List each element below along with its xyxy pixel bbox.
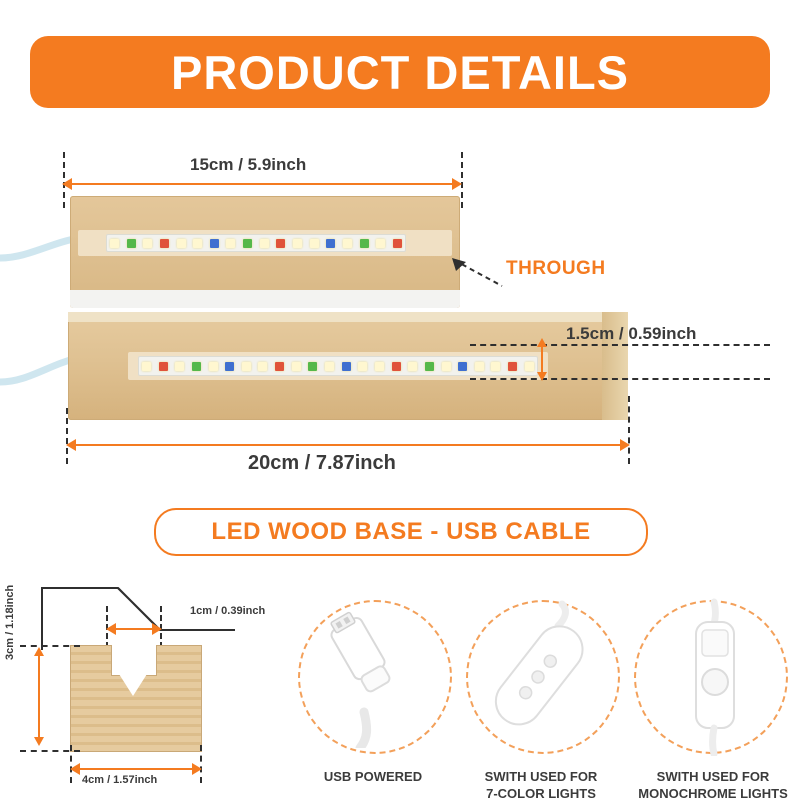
- led: [142, 362, 151, 371]
- feature-caption-line1: SWITH USED FOR: [485, 769, 598, 784]
- guide-height-bottom: [470, 378, 770, 380]
- led: [192, 362, 201, 371]
- dimension-arrow-notch: [116, 628, 152, 630]
- feature-caption-remote: SWITH USED FOR 7-COLOR LIGHTS: [446, 768, 636, 802]
- remote-switch-icon: [470, 596, 620, 746]
- led: [226, 239, 235, 248]
- arrowhead-right-top: [452, 178, 462, 190]
- dimension-label-top-width: 15cm / 5.9inch: [190, 155, 306, 175]
- led: [177, 239, 186, 248]
- led: [159, 362, 168, 371]
- feature-caption-line2: MONOCHROME LIGHTS: [638, 786, 788, 801]
- guide-height-top: [470, 344, 770, 346]
- through-label: THROUGH: [506, 258, 606, 280]
- wood-cross-section: [70, 645, 202, 752]
- cable-top-left: [0, 228, 80, 268]
- led: [292, 362, 301, 371]
- led: [425, 362, 434, 371]
- dimension-label-bottom-width: 20cm / 7.87inch: [248, 452, 396, 475]
- led: [242, 362, 251, 371]
- led: [408, 362, 417, 371]
- led-strip-top: [106, 234, 406, 252]
- arrowhead-up-xsec: [34, 647, 44, 656]
- dimension-arrow-bottom: [76, 444, 620, 446]
- feature-caption-line2: 7-COLOR LIGHTS: [486, 786, 596, 801]
- led: [276, 239, 285, 248]
- cross-section-v-groove: [119, 674, 147, 696]
- led: [376, 239, 385, 248]
- led: [193, 239, 202, 248]
- led: [393, 239, 402, 248]
- led: [360, 239, 369, 248]
- led: [508, 362, 517, 371]
- dimension-label-height: 1.5cm / 0.59inch: [566, 324, 696, 344]
- dimension-arrow-xsec-width: [80, 768, 192, 770]
- usb-connector-icon: [310, 608, 440, 748]
- guide-right-bottom: [628, 396, 630, 464]
- wood-base-bottom: [68, 312, 628, 420]
- led: [293, 239, 302, 248]
- led: [160, 239, 169, 248]
- arrowhead-left-bottom: [66, 439, 76, 451]
- led: [225, 362, 234, 371]
- led: [342, 362, 351, 371]
- led: [258, 362, 267, 371]
- arrowhead-left-xsec-width: [70, 763, 80, 775]
- dimension-arrow-xsec-height: [38, 655, 40, 741]
- through-leader-line: [452, 258, 512, 294]
- dimension-label-notch-width: 1cm / 0.39inch: [190, 605, 265, 617]
- section-title: LED WOOD BASE - USB CABLE: [211, 518, 590, 546]
- led: [458, 362, 467, 371]
- arrowhead-left-top: [62, 178, 72, 190]
- arrowhead-right-notch: [152, 623, 162, 635]
- led: [375, 362, 384, 371]
- arrowhead-right-xsec-width: [192, 763, 202, 775]
- page-title: PRODUCT DETAILS: [171, 45, 629, 100]
- product-details-page: PRODUCT DETAILS 15cm / 5.9inch: [0, 0, 800, 800]
- led: [260, 239, 269, 248]
- led-strip-bottom: [138, 356, 538, 376]
- led: [110, 239, 119, 248]
- led: [525, 362, 534, 371]
- arrowhead-up-height: [537, 338, 547, 347]
- led: [210, 239, 219, 248]
- led: [308, 362, 317, 371]
- dimension-arrow-top: [72, 183, 452, 185]
- guide-left-bottom: [66, 408, 68, 464]
- guide-xsec-top: [20, 645, 80, 647]
- wood-base-top: [70, 196, 460, 308]
- wood-lip-top: [70, 290, 460, 308]
- arrowhead-right-bottom: [620, 439, 630, 451]
- led: [475, 362, 484, 371]
- led: [143, 239, 152, 248]
- led: [175, 362, 184, 371]
- feature-caption-line1: SWITH USED FOR: [657, 769, 770, 784]
- led: [275, 362, 284, 371]
- led: [310, 239, 319, 248]
- arrowhead-down-xsec: [34, 737, 44, 746]
- led: [325, 362, 334, 371]
- led: [358, 362, 367, 371]
- led: [442, 362, 451, 371]
- wood-lip-bottom-top: [68, 312, 628, 322]
- cross-section-notch: [111, 645, 157, 676]
- led: [127, 239, 136, 248]
- led: [491, 362, 500, 371]
- feature-caption-line1: USB POWERED: [324, 769, 422, 784]
- arrowhead-left-notch: [106, 623, 116, 635]
- header-banner: PRODUCT DETAILS: [30, 36, 770, 108]
- feature-caption-usb: USB POWERED: [278, 768, 468, 785]
- led: [243, 239, 252, 248]
- led: [326, 239, 335, 248]
- dimension-label-xsec-width: 4cm / 1.57inch: [82, 774, 157, 786]
- led: [343, 239, 352, 248]
- led: [209, 362, 218, 371]
- inline-switch-icon: [650, 596, 780, 756]
- section-pill: LED WOOD BASE - USB CABLE: [154, 508, 648, 556]
- dimension-label-xsec-height: 3cm / 1.18inch: [4, 585, 16, 660]
- arrowhead-down-height: [537, 372, 547, 381]
- led: [392, 362, 401, 371]
- feature-caption-inline: SWITH USED FOR MONOCHROME LIGHTS: [618, 768, 800, 802]
